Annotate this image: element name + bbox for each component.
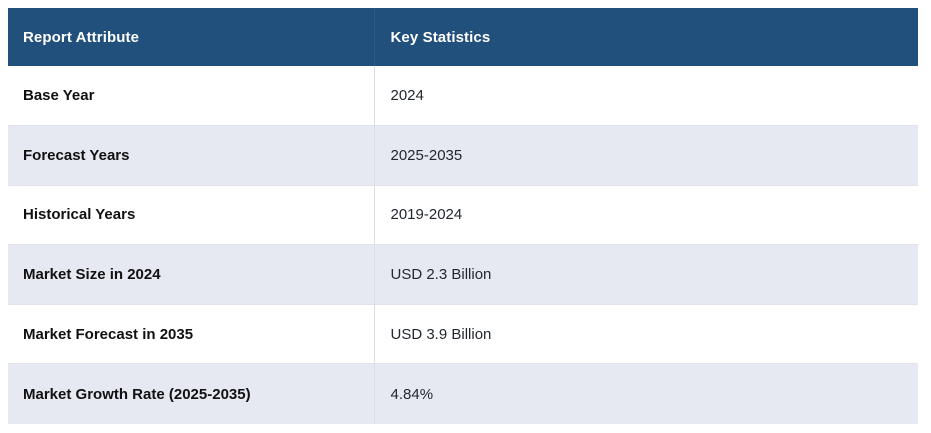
table-body: Base Year 2024 Forecast Years 2025-2035 …	[8, 66, 918, 424]
table-header-row: Report Attribute Key Statistics	[8, 8, 918, 66]
table-row: Market Growth Rate (2025-2035) 4.84%	[8, 364, 918, 424]
row-value-forecast-years: 2025-2035	[374, 126, 918, 186]
table-row: Forecast Years 2025-2035	[8, 126, 918, 186]
table-header: Report Attribute Key Statistics	[8, 8, 918, 66]
row-label-forecast-years: Forecast Years	[8, 126, 374, 186]
table-row: Historical Years 2019-2024	[8, 185, 918, 245]
table-row: Market Size in 2024 USD 2.3 Billion	[8, 245, 918, 305]
column-header-key-statistics: Key Statistics	[374, 8, 918, 66]
column-header-report-attribute: Report Attribute	[8, 8, 374, 66]
row-label-market-size-2024: Market Size in 2024	[8, 245, 374, 305]
row-value-market-size-2024: USD 2.3 Billion	[374, 245, 918, 305]
row-label-market-forecast-2035: Market Forecast in 2035	[8, 304, 374, 364]
report-statistics-table-container: Report Attribute Key Statistics Base Yea…	[8, 8, 918, 424]
row-label-market-growth-rate: Market Growth Rate (2025-2035)	[8, 364, 374, 424]
row-label-base-year: Base Year	[8, 66, 374, 126]
row-value-base-year: 2024	[374, 66, 918, 126]
table-row: Base Year 2024	[8, 66, 918, 126]
table-row: Market Forecast in 2035 USD 3.9 Billion	[8, 304, 918, 364]
row-value-historical-years: 2019-2024	[374, 185, 918, 245]
row-label-historical-years: Historical Years	[8, 185, 374, 245]
report-statistics-table: Report Attribute Key Statistics Base Yea…	[8, 8, 918, 424]
row-value-market-growth-rate: 4.84%	[374, 364, 918, 424]
row-value-market-forecast-2035: USD 3.9 Billion	[374, 304, 918, 364]
